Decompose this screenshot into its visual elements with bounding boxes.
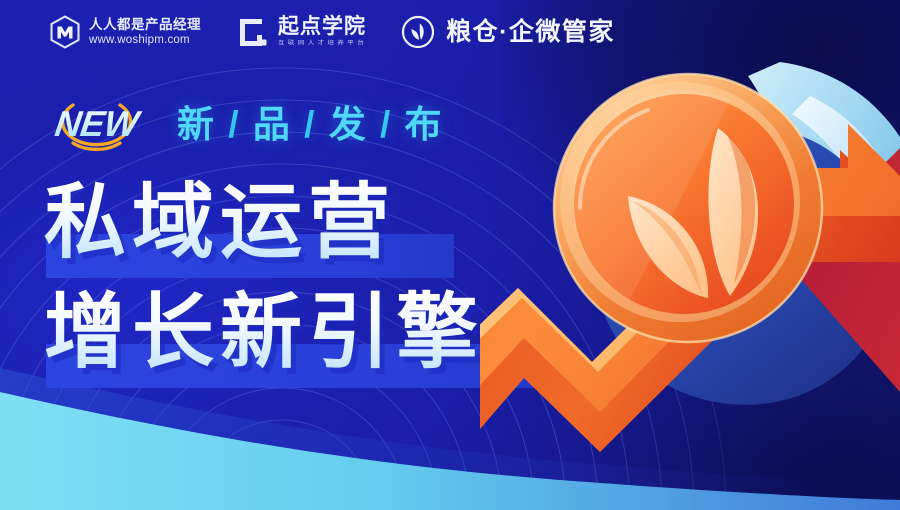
new-badge: NEW — [44, 93, 149, 155]
qidian-text-block: 起点学院 互联网人才培养平台 — [278, 16, 367, 48]
blue-diagonal-ribbons — [724, 62, 900, 330]
subtitle-char-4: 布 — [405, 104, 443, 145]
woshipm-title: 人人都是产品经理 — [89, 18, 201, 32]
subtitle-char-3: 发 — [329, 104, 367, 145]
subtitle-char-1: 新 — [177, 104, 215, 145]
headline-line-1-wrap: 私域运营 — [44, 173, 524, 278]
qidian-subtitle: 互联网人才培养平台 — [278, 41, 367, 47]
new-badge-label: NEW — [40, 93, 154, 155]
headline-line-2-wrap: 增长新引擎 — [44, 283, 604, 388]
woshipm-text-block: 人人都是产品经理 www.woshipm.com — [89, 18, 201, 46]
woshipm-m-logo-icon — [48, 15, 82, 49]
woshipm-url: www.woshipm.com — [89, 35, 201, 47]
logo-woshipm[interactable]: 人人都是产品经理 www.woshipm.com — [48, 15, 201, 49]
partner-logo-row: 人人都是产品经理 www.woshipm.com 起点学院 互联网人才培养平台 … — [48, 15, 615, 49]
leaf-right-icon — [708, 128, 758, 296]
leaf-left-icon — [628, 196, 708, 298]
qidian-square-logo-icon — [237, 16, 270, 49]
qidian-title: 起点学院 — [278, 16, 367, 37]
subtitle-sep-2: / — [302, 104, 317, 145]
headline-line-1: 私域运营 — [44, 173, 396, 273]
hero-subtitle: 新 / 品 / 发 / 布 — [177, 106, 443, 143]
headline-line-2: 增长新引擎 — [44, 283, 484, 383]
subtitle-char-2: 品 — [253, 104, 291, 145]
promo-banner: 人人都是产品经理 www.woshipm.com 起点学院 互联网人才培养平台 … — [0, 0, 900, 510]
liangcang-title: 粮仓·企微管家 — [446, 20, 615, 45]
subtitle-sep-1: / — [226, 104, 241, 145]
logo-qidian[interactable]: 起点学院 互联网人才培养平台 — [237, 16, 367, 49]
liangcang-leaf-circle-icon — [401, 15, 435, 49]
logo-liangcang[interactable]: 粮仓·企微管家 — [401, 15, 615, 49]
hero-eyebrow-row: NEW 新 / 品 / 发 / 布 — [44, 93, 443, 155]
subtitle-sep-3: / — [378, 104, 393, 145]
